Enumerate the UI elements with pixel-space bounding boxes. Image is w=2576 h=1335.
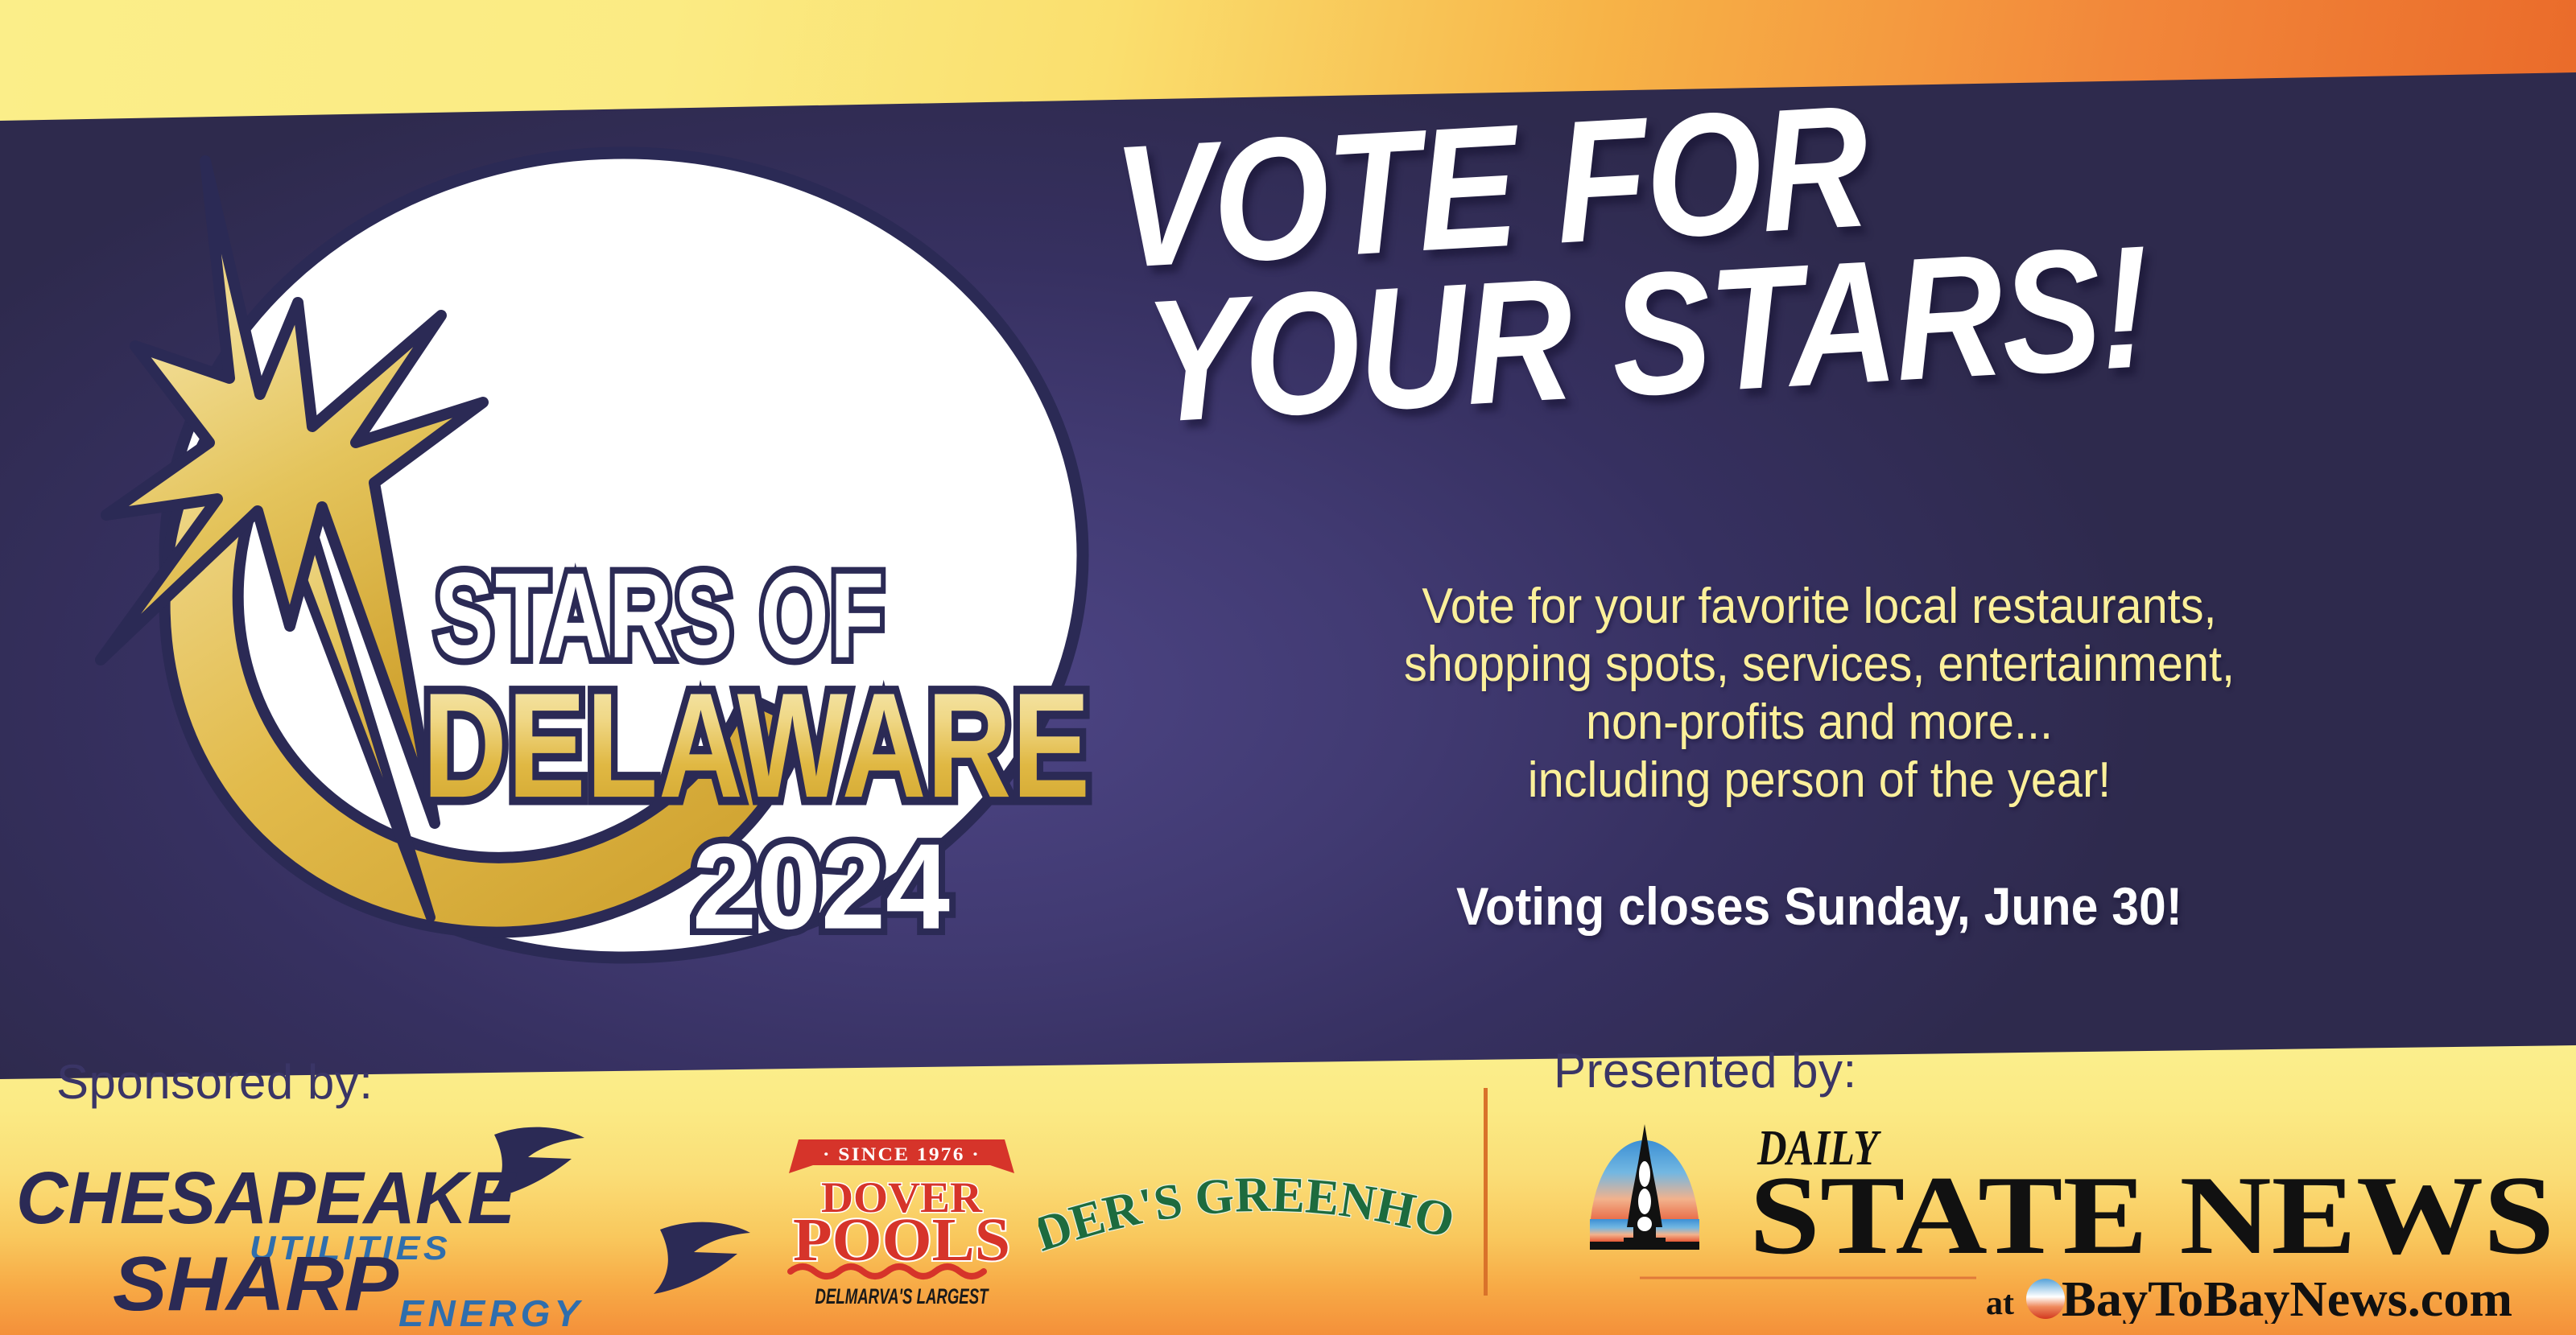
yoders-artwork: YODER'S GREENHOUSE <box>1038 1159 1473 1263</box>
bay-to-bay-url: BayToBayNews.com <box>2062 1272 2512 1324</box>
sponsor-logo-dover-pools: · SINCE 1976 · DOVER POOLS DELMARVA'S LA… <box>749 1110 1055 1312</box>
presented-by-label: Presented by: <box>1554 1043 1857 1098</box>
sponsor-logo-chesapeake-sharp: CHESAPEAKE UTILITIES SHARP ENERGY <box>8 1110 757 1328</box>
yoders-wordmark: YODER'S GREENHOUSE <box>1038 1159 1460 1263</box>
sharp-energy-label: ENERGY <box>398 1292 584 1328</box>
deadline-text: Voting closes Sunday, June 30! <box>1220 877 2419 936</box>
lighthouse-icon <box>1590 1124 1699 1250</box>
sponsored-by-label: Sponsored by: <box>56 1054 373 1110</box>
chesapeake-wordmark: CHESAPEAKE <box>16 1157 518 1239</box>
presenter-logo-daily-state-news: DAILY STATE NEWS at BayToBayNews.com <box>1574 1106 2564 1324</box>
dover-since-text: · SINCE 1976 · <box>823 1144 980 1164</box>
body-line-3: non-profits and more... <box>1213 694 2426 752</box>
chesapeake-sharp-artwork: CHESAPEAKE UTILITIES SHARP ENERGY <box>8 1110 757 1328</box>
body-line-4: including person of the year! <box>1213 752 2426 810</box>
dover-pools-artwork: · SINCE 1976 · DOVER POOLS DELMARVA'S LA… <box>749 1110 1055 1312</box>
sponsor-logo-yoders-greenhouse: YODER'S GREENHOUSE <box>1038 1159 1473 1263</box>
at-label: at <box>1986 1285 2014 1322</box>
logo-line2: DELAWARE <box>423 662 1091 829</box>
state-news-wordmark: STATE NEWS <box>1749 1153 2554 1278</box>
body-line-1: Vote for your favorite local restaurants… <box>1213 578 2426 636</box>
body-line-2: shopping spots, services, entertainment, <box>1213 636 2426 694</box>
sunrise-dot-icon <box>2026 1279 2065 1319</box>
stars-of-delaware-ad-banner: STARS OF DELAWARE 2024 VOTE FOR YOUR STA… <box>0 0 2576 1335</box>
footer-divider <box>1484 1088 1488 1296</box>
logo-artwork: STARS OF DELAWARE 2024 <box>56 105 1127 1006</box>
sharp-wordmark: SHARP <box>113 1241 399 1327</box>
headline: VOTE FOR YOUR STARS! <box>1103 39 2576 498</box>
body-copy: Vote for your favorite local restaurants… <box>1213 578 2426 810</box>
sharp-bird-icon <box>654 1222 750 1294</box>
daily-state-news-artwork: DAILY STATE NEWS at BayToBayNews.com <box>1574 1106 2564 1324</box>
dover-tagline: DELMARVA'S LARGEST <box>815 1284 990 1308</box>
logo-year: 2024 <box>692 819 950 954</box>
stars-of-delaware-logo: STARS OF DELAWARE 2024 <box>56 105 1127 1006</box>
